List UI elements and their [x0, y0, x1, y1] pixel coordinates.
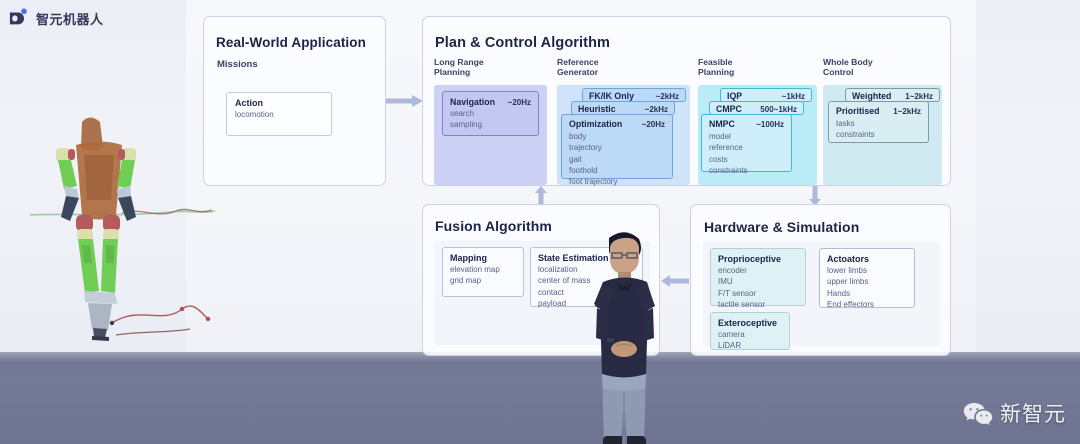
- arrow-plan-to-hardware-icon: [808, 186, 822, 206]
- card-navigation-freq: ~20Hz: [508, 98, 531, 107]
- card-nmpc-head: NMPC ~100Hz: [702, 115, 791, 129]
- card-mapping-items: elevation map grid map: [443, 263, 523, 287]
- card-iqp[interactable]: IQP ~1kHz: [720, 88, 812, 102]
- group-title-real-world-application: Real-World Application: [216, 35, 366, 50]
- card-optimization-title: Optimization: [569, 119, 622, 129]
- agibot-logo-icon: [8, 8, 30, 28]
- card-weighted-head: Weighted 1~2kHz: [846, 89, 939, 101]
- card-optimization-head: Optimization ~20Hz: [562, 115, 672, 129]
- arrow-app-to-plan-icon: [386, 94, 424, 108]
- group-title-fusion-algorithm: Fusion Algorithm: [435, 218, 552, 234]
- card-cmpc-title: CMPC: [716, 104, 742, 114]
- label-feasible-planning: Feasible Planning: [698, 57, 734, 78]
- card-prioritised[interactable]: Prioritised 1~2kHz tasks constraints: [828, 101, 929, 143]
- real-world-application-group: Real-World Application Missions Action l…: [203, 16, 386, 186]
- card-navigation[interactable]: Navigation ~20Hz search sampling: [442, 91, 539, 136]
- hardware-simulation-group: Hardware & Simulation Proprioceptive enc…: [690, 204, 951, 356]
- card-fkik-only[interactable]: FK/IK Only ~2kHz: [582, 88, 686, 102]
- card-actuators-title: Actoators: [827, 254, 869, 264]
- card-nmpc-items: model reference costs constraints: [702, 129, 791, 176]
- card-exteroceptive-title: Exteroceptive: [718, 318, 777, 328]
- card-exteroceptive[interactable]: Exteroceptive camera LiDAR: [710, 312, 790, 350]
- card-prioritised-title: Prioritised: [836, 106, 880, 116]
- card-optimization-items: body trajectory gait foothold foot traje…: [562, 129, 672, 188]
- card-heuristic-head: Heuristic ~2kHz: [572, 102, 674, 114]
- card-exteroceptive-items: camera LiDAR: [711, 328, 789, 352]
- card-actuators-head: Actoators: [820, 249, 914, 264]
- panel-feasible-planning: IQP ~1kHz CMPC 500~1kHz NMPC ~100Hz mod: [698, 85, 817, 185]
- label-reference-generator: Reference Generator: [557, 57, 599, 78]
- card-navigation-title: Navigation: [450, 97, 495, 107]
- card-proprioceptive-title: Proprioceptive: [718, 254, 781, 264]
- card-iqp-head: IQP ~1kHz: [721, 89, 811, 101]
- card-optimization-freq: ~20Hz: [642, 120, 665, 129]
- card-navigation-head: Navigation ~20Hz: [443, 92, 538, 107]
- card-nmpc-freq: ~100Hz: [756, 120, 784, 129]
- card-iqp-title: IQP: [727, 91, 742, 101]
- card-iqp-freq: ~1kHz: [782, 92, 805, 101]
- panel-reference-generator: FK/IK Only ~2kHz Heuristic ~2kHz Optimiz…: [557, 85, 690, 185]
- card-navigation-items: search sampling: [443, 107, 538, 131]
- stage-floor: [0, 352, 1080, 444]
- plan-control-algorithm-group: Plan & Control Algorithm Long Range Plan…: [422, 16, 951, 186]
- card-cmpc[interactable]: CMPC 500~1kHz: [709, 101, 804, 115]
- card-fkik-only-head: FK/IK Only ~2kHz: [583, 89, 685, 101]
- watermark-text: 新智元: [1000, 398, 1066, 428]
- card-nmpc-title: NMPC: [709, 119, 735, 129]
- card-prioritised-items: tasks constraints: [829, 116, 928, 141]
- card-proprioceptive-items: encoder IMU F/T sensor tactile sensor: [711, 264, 805, 310]
- card-weighted[interactable]: Weighted 1~2kHz: [845, 88, 940, 102]
- card-mapping[interactable]: Mapping elevation map grid map: [442, 247, 524, 297]
- card-proprioceptive[interactable]: Proprioceptive encoder IMU F/T sensor ta…: [710, 248, 806, 306]
- card-weighted-title: Weighted: [852, 91, 891, 101]
- card-optimization[interactable]: Optimization ~20Hz body trajectory gait …: [561, 114, 673, 179]
- brand-name: 智元机器人: [36, 9, 104, 28]
- card-nmpc[interactable]: NMPC ~100Hz model reference costs constr…: [701, 114, 792, 172]
- channel-watermark: 新智元: [963, 398, 1066, 428]
- card-action-items: locomotion: [227, 108, 331, 120]
- card-fkik-only-freq: ~2kHz: [656, 92, 679, 101]
- card-weighted-freq: 1~2kHz: [905, 92, 933, 101]
- card-action-title: Action: [227, 93, 331, 108]
- presenter-person: [569, 222, 679, 444]
- card-prioritised-head: Prioritised 1~2kHz: [829, 102, 928, 116]
- card-mapping-title: Mapping: [450, 253, 487, 263]
- panel-long-range-planning: Navigation ~20Hz search sampling: [434, 85, 547, 185]
- card-actuators[interactable]: Actoators lower limbs upper limbs Hands …: [819, 248, 915, 308]
- card-actuators-items: lower limbs upper limbs Hands End effect…: [820, 264, 914, 310]
- card-mapping-head: Mapping: [443, 248, 523, 263]
- card-proprioceptive-head: Proprioceptive: [711, 249, 805, 264]
- card-heuristic-title: Heuristic: [578, 104, 616, 114]
- card-exteroceptive-head: Exteroceptive: [711, 313, 789, 328]
- humanoid-robot-visualization: [30, 95, 215, 350]
- missions-label: Missions: [217, 59, 258, 71]
- card-fkik-only-title: FK/IK Only: [589, 91, 634, 101]
- brand-logo: 智元机器人: [8, 8, 104, 28]
- panel-whole-body-control: Weighted 1~2kHz Prioritised 1~2kHz tasks…: [823, 85, 942, 185]
- wechat-icon: [963, 401, 993, 426]
- group-title-hardware-simulation: Hardware & Simulation: [704, 219, 859, 235]
- card-heuristic[interactable]: Heuristic ~2kHz: [571, 101, 675, 115]
- presentation-screenshot: 智元机器人: [0, 0, 1080, 444]
- panel-hardware-simulation: Proprioceptive encoder IMU F/T sensor ta…: [703, 242, 940, 346]
- card-prioritised-freq: 1~2kHz: [893, 107, 921, 116]
- label-whole-body-control: Whole Body Control: [823, 57, 873, 78]
- card-cmpc-freq: 500~1kHz: [760, 105, 797, 114]
- card-cmpc-head: CMPC 500~1kHz: [710, 102, 803, 114]
- label-long-range-planning: Long Range Planning: [434, 57, 484, 78]
- card-heuristic-freq: ~2kHz: [645, 105, 668, 114]
- group-title-plan-control: Plan & Control Algorithm: [435, 35, 610, 51]
- card-action[interactable]: Action locomotion: [226, 92, 332, 136]
- arrow-fusion-to-plan-icon: [534, 186, 548, 206]
